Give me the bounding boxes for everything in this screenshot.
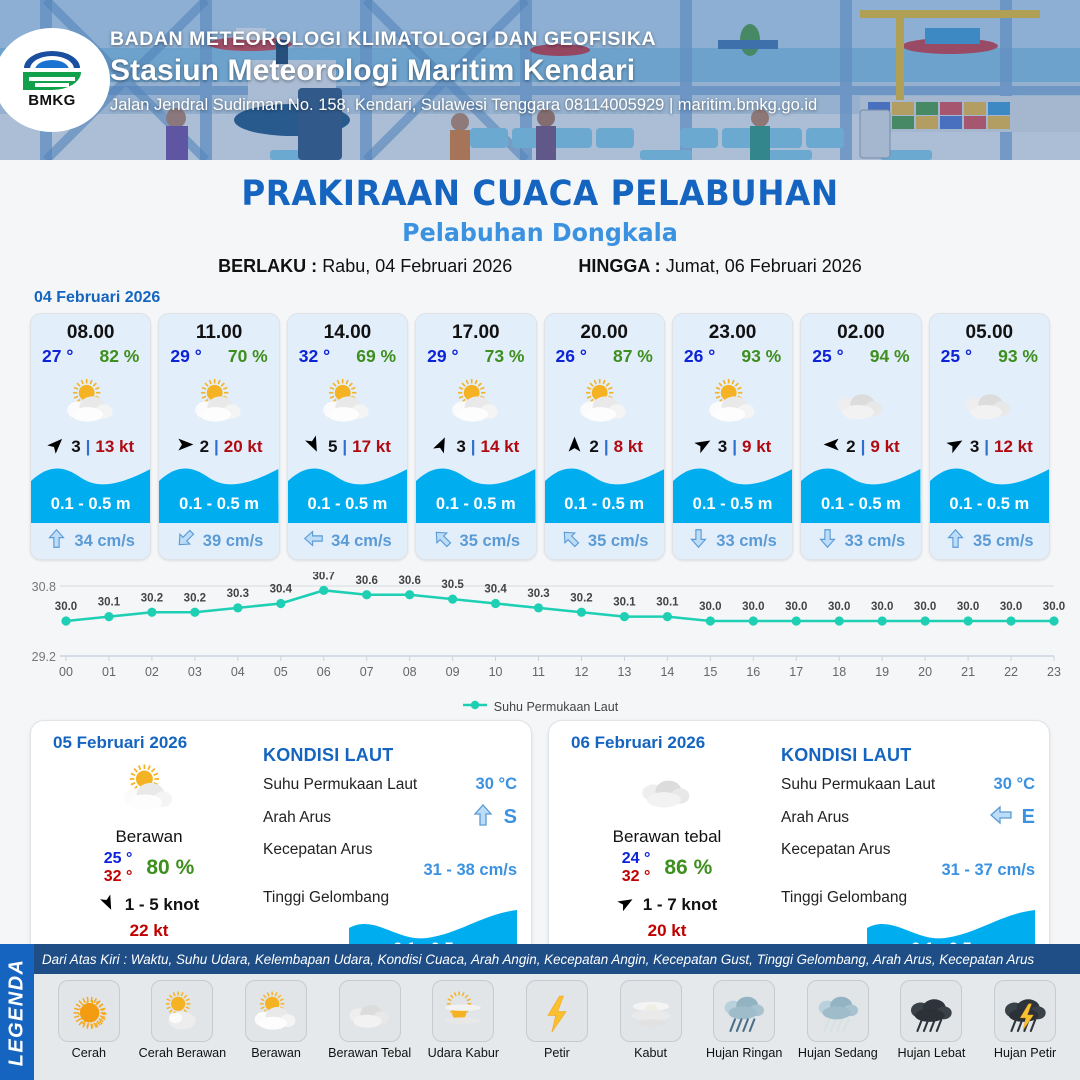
svg-text:30.5: 30.5 <box>441 579 464 591</box>
svg-text:07: 07 <box>360 665 374 679</box>
svg-text:30.0: 30.0 <box>742 601 764 613</box>
hour-temperature: 25 ° <box>812 346 843 367</box>
legend-tab: LEGENDA <box>0 944 34 1080</box>
weather-cloudy-icon <box>801 369 920 432</box>
weather-lightning-icon <box>526 980 588 1042</box>
legend-item: Hujan Ringan <box>700 980 788 1060</box>
svg-text:30.4: 30.4 <box>270 584 293 596</box>
wind-gust-value: 13 kt <box>95 437 134 457</box>
legend-item: Berawan <box>232 980 320 1060</box>
svg-text:30.0: 30.0 <box>914 601 936 613</box>
legend-item: Hujan Petir <box>981 980 1069 1060</box>
page-title: PRAKIRAAN CUACA PELABUHAN <box>38 174 1042 214</box>
daily-forecast-panel: 06 Februari 2026 Berawan tebal 24 ° 32 °… <box>548 720 1050 968</box>
hourly-card: 20.00 26 ° 87 % 2 | 8 kt 0.1 - 0.5 m 35 … <box>544 313 665 560</box>
svg-text:30.2: 30.2 <box>141 592 163 604</box>
wind-direction-arrow-icon <box>946 435 965 459</box>
hour-current: 33 cm/s <box>673 523 792 559</box>
svg-text:30.0: 30.0 <box>785 601 807 613</box>
legend-item-label: Cerah Berawan <box>138 1046 226 1060</box>
svg-text:30.6: 30.6 <box>356 575 378 587</box>
daily-date: 06 Februari 2026 <box>571 733 705 753</box>
wind-direction-value: 5 <box>328 437 337 457</box>
wind-direction-value: 3 <box>970 437 979 457</box>
current-direction-indicator: E <box>989 803 1035 832</box>
hour-time: 20.00 <box>545 314 664 346</box>
svg-text:04: 04 <box>231 665 245 679</box>
sea-conditions-title: KONDISI LAUT <box>263 745 517 766</box>
hourly-card: 14.00 32 ° 69 % 5 | 17 kt 0.1 - 0.5 m 34… <box>287 313 408 560</box>
hour-temperature: 29 ° <box>170 346 201 367</box>
svg-text:11: 11 <box>532 665 545 679</box>
weather-partly-cloudy-icon <box>49 757 249 819</box>
valid-from-value: Rabu, 04 Februari 2026 <box>322 256 512 276</box>
legend-section: LEGENDA Dari Atas Kiri : Waktu, Suhu Uda… <box>0 944 1080 1080</box>
svg-text:01: 01 <box>102 665 116 679</box>
weather-thunderstorm-icon <box>994 980 1056 1042</box>
daily-forecast-row: 05 Februari 2026 Berawan 25 ° 32 ° 80 % … <box>0 714 1080 968</box>
chart-legend-label: Suhu Permukaan Laut <box>494 700 618 714</box>
wind-gust-value: 8 kt <box>614 437 643 457</box>
station-name: Stasiun Meteorologi Maritim Kendari <box>110 54 817 88</box>
hour-wind: 2 | 8 kt <box>545 432 664 462</box>
hour-time: 14.00 <box>288 314 407 346</box>
wave-height-block: 0.1 - 0.5 m <box>288 463 407 523</box>
weather-light-rain-icon <box>713 980 775 1042</box>
legend-note: Dari Atas Kiri : Waktu, Suhu Udara, Kele… <box>42 952 1076 967</box>
legend-item: Cerah Berawan <box>138 980 226 1060</box>
hour-time: 17.00 <box>416 314 535 346</box>
svg-text:30.1: 30.1 <box>656 597 679 609</box>
daily-temp-min: 25 ° <box>104 850 133 868</box>
svg-text:30.1: 30.1 <box>613 597 636 609</box>
legend-item: Udara Kabur <box>419 980 507 1060</box>
wind-gust-value: 17 kt <box>352 437 391 457</box>
svg-text:10: 10 <box>489 665 503 679</box>
hourly-card: 08.00 27 ° 82 % 3 | 13 kt 0.1 - 0.5 m 34… <box>30 313 151 560</box>
current-speed-value: 34 cm/s <box>331 532 392 551</box>
valid-until-value: Jumat, 06 Februari 2026 <box>666 256 862 276</box>
current-direction-arrow-icon <box>560 528 581 554</box>
hour-current: 34 cm/s <box>288 523 407 559</box>
wind-direction-arrow-icon <box>617 894 635 917</box>
svg-text:30.3: 30.3 <box>527 588 549 600</box>
wave-height-row: Tinggi Gelombang <box>263 889 517 907</box>
current-speed-row: Kecepatan Arus <box>781 841 1035 859</box>
hour-current: 39 cm/s <box>159 523 278 559</box>
svg-text:30.4: 30.4 <box>484 584 507 596</box>
svg-text:30.0: 30.0 <box>1000 601 1022 613</box>
svg-text:30.0: 30.0 <box>828 601 850 613</box>
daily-summary: Berawan tebal 24 ° 32 ° 86 % 1 - 7 knot … <box>567 757 767 941</box>
hour-wind: 2 | 9 kt <box>801 432 920 462</box>
hour-humidity: 69 % <box>356 346 396 367</box>
svg-text:19: 19 <box>875 665 889 679</box>
weather-partly-cloudy-icon <box>288 369 407 432</box>
sst-value: 30 °C <box>476 775 517 794</box>
wind-direction-arrow-icon <box>432 435 451 459</box>
svg-text:12: 12 <box>575 665 589 679</box>
hourly-card: 02.00 25 ° 94 % 2 | 9 kt 0.1 - 0.5 m 33 … <box>800 313 921 560</box>
wave-height-value: 0.1 - 0.5 m <box>159 495 278 514</box>
legend-item: Kabut <box>607 980 695 1060</box>
header-text-block: BADAN METEOROLOGI KLIMATOLOGI DAN GEOFIS… <box>110 28 817 115</box>
daily-temp-max: 32 ° <box>104 868 133 886</box>
bmkg-logo-text: BMKG <box>28 92 75 109</box>
hour-temperature: 26 ° <box>684 346 715 367</box>
current-speed-value: 33 cm/s <box>845 532 906 551</box>
hourly-card: 23.00 26 ° 93 % 3 | 9 kt 0.1 - 0.5 m 33 … <box>672 313 793 560</box>
hour-humidity: 73 % <box>485 346 525 367</box>
wave-height-value: 0.1 - 0.5 m <box>673 495 792 514</box>
hour-current: 35 cm/s <box>930 523 1049 559</box>
weather-moderate-rain-icon <box>807 980 869 1042</box>
page-subtitle: Pelabuhan Dongkala <box>27 218 1053 247</box>
wind-gust-value: 20 kt <box>224 437 263 457</box>
current-direction-arrow-icon <box>175 528 196 554</box>
wave-height-label: Tinggi Gelombang <box>781 889 907 907</box>
current-speed-value: 39 cm/s <box>203 532 264 551</box>
hourly-forecast-row: 08.00 27 ° 82 % 3 | 13 kt 0.1 - 0.5 m 34… <box>0 313 1080 560</box>
legend-item-label: Udara Kabur <box>419 1046 507 1060</box>
svg-text:14: 14 <box>660 665 674 679</box>
wave-height-block: 0.1 - 0.5 m <box>801 463 920 523</box>
hour-humidity: 82 % <box>99 346 139 367</box>
hour-values: 29 ° 70 % <box>159 346 278 369</box>
current-direction-label: Arah Arus <box>263 809 331 827</box>
hour-temperature: 27 ° <box>42 346 73 367</box>
wind-separator: | <box>984 437 989 457</box>
daily-wind: 1 - 5 knot <box>49 894 249 917</box>
wind-separator: | <box>471 437 476 457</box>
legend-item: Berawan Tebal <box>326 980 414 1060</box>
chart-legend-marker <box>462 699 488 714</box>
wind-direction-arrow-icon <box>694 435 713 459</box>
wave-height-block: 0.1 - 0.5 m <box>930 463 1049 523</box>
legend-item-label: Hujan Sedang <box>794 1046 882 1060</box>
svg-text:30.8: 30.8 <box>32 580 56 594</box>
sst-label: Suhu Permukaan Laut <box>263 776 417 794</box>
valid-until-label: HINGGA : <box>578 256 660 276</box>
hourly-card: 17.00 29 ° 73 % 3 | 14 kt 0.1 - 0.5 m 35… <box>415 313 536 560</box>
current-speed-value: 35 cm/s <box>973 532 1034 551</box>
wind-direction-value: 3 <box>456 437 465 457</box>
wind-direction-value: 2 <box>589 437 598 457</box>
hour-values: 29 ° 73 % <box>416 346 535 369</box>
valid-from-label: BERLAKU : <box>218 256 317 276</box>
wave-height-value: 0.1 - 0.5 m <box>545 495 664 514</box>
wave-height-value: 0.1 - 0.5 m <box>930 495 1049 514</box>
current-direction-arrow-icon <box>945 528 966 554</box>
svg-text:02: 02 <box>145 665 159 679</box>
daily-gust: 22 kt <box>49 921 249 941</box>
hour-temperature: 25 ° <box>941 346 972 367</box>
current-speed-value: 33 cm/s <box>716 532 777 551</box>
hour-time: 02.00 <box>801 314 920 346</box>
legend-item-label: Hujan Petir <box>981 1046 1069 1060</box>
svg-text:09: 09 <box>446 665 460 679</box>
svg-text:06: 06 <box>317 665 331 679</box>
current-speed-value: 31 - 37 cm/s <box>781 861 1035 880</box>
daily-summary: Berawan 25 ° 32 ° 80 % 1 - 5 knot 22 kt <box>49 757 249 941</box>
hour-temperature: 32 ° <box>299 346 330 367</box>
svg-text:18: 18 <box>832 665 846 679</box>
svg-text:20: 20 <box>918 665 932 679</box>
hourly-card: 11.00 29 ° 70 % 2 | 20 kt 0.1 - 0.5 m 39… <box>158 313 279 560</box>
svg-text:30.0: 30.0 <box>871 601 893 613</box>
hour-time: 11.00 <box>159 314 278 346</box>
legend-item-label: Kabut <box>607 1046 695 1060</box>
hour-values: 26 ° 87 % <box>545 346 664 369</box>
legend-item-label: Hujan Ringan <box>700 1046 788 1060</box>
legend-item: Petir <box>513 980 601 1060</box>
bmkg-logo-arcs <box>21 51 83 91</box>
svg-text:30.7: 30.7 <box>313 572 335 582</box>
hour-values: 25 ° 94 % <box>801 346 920 369</box>
hour-time: 23.00 <box>673 314 792 346</box>
legend-item: Hujan Lebat <box>887 980 975 1060</box>
weather-cloudy-icon <box>567 757 767 819</box>
weather-heavy-rain-icon <box>900 980 962 1042</box>
sea-conditions: KONDISI LAUT Suhu Permukaan Laut 30 °C A… <box>263 745 517 968</box>
current-direction-arrow-icon <box>432 528 453 554</box>
daily-wind-range: 1 - 7 knot <box>643 895 718 915</box>
title-block: PRAKIRAAN CUACA PELABUHAN Pelabuhan Dong… <box>0 160 1080 277</box>
hour-humidity: 93 % <box>741 346 781 367</box>
hour-wind: 2 | 20 kt <box>159 432 278 462</box>
wind-separator: | <box>342 437 347 457</box>
wind-gust-value: 9 kt <box>870 437 899 457</box>
weather-haze-icon <box>432 980 494 1042</box>
legend-item: Hujan Sedang <box>794 980 882 1060</box>
hour-wind: 5 | 17 kt <box>288 432 407 462</box>
page-header: BMKG BADAN METEOROLOGI KLIMATOLOGI DAN G… <box>0 0 1080 160</box>
hour-values: 25 ° 93 % <box>930 346 1049 369</box>
wind-gust-value: 9 kt <box>742 437 771 457</box>
wind-direction-arrow-icon <box>304 435 323 459</box>
hour-humidity: 94 % <box>870 346 910 367</box>
wind-separator: | <box>732 437 737 457</box>
hour-current: 35 cm/s <box>545 523 664 559</box>
weather-sun-icon <box>58 980 120 1042</box>
current-direction-arrow-icon <box>817 528 838 554</box>
legend-item-label: Cerah <box>45 1046 133 1060</box>
daily-humidity: 80 % <box>146 856 194 880</box>
daily-temp-max: 32 ° <box>622 868 651 886</box>
hour-values: 26 ° 93 % <box>673 346 792 369</box>
wind-separator: | <box>861 437 866 457</box>
svg-text:22: 22 <box>1004 665 1018 679</box>
daily-wind: 1 - 7 knot <box>567 894 767 917</box>
daily-forecast-panel: 05 Februari 2026 Berawan 25 ° 32 ° 80 % … <box>30 720 532 968</box>
current-speed-value: 35 cm/s <box>588 532 649 551</box>
wind-direction-value: 3 <box>71 437 80 457</box>
current-direction-label: Arah Arus <box>781 809 849 827</box>
daily-temperatures: 25 ° 32 ° <box>104 850 133 886</box>
hourly-date-label: 04 Februari 2026 <box>34 289 1080 307</box>
svg-text:30.0: 30.0 <box>55 601 77 613</box>
sst-value: 30 °C <box>994 775 1035 794</box>
validity-range: BERLAKU : Rabu, 04 Februari 2026 HINGGA … <box>0 256 1080 277</box>
wave-height-block: 0.1 - 0.5 m <box>159 463 278 523</box>
current-direction-arrow-icon <box>688 528 709 554</box>
wind-direction-arrow-icon <box>99 894 117 917</box>
wave-height-value: 0.1 - 0.5 m <box>288 495 407 514</box>
svg-text:30.3: 30.3 <box>227 588 249 600</box>
wave-height-block: 0.1 - 0.5 m <box>545 463 664 523</box>
current-speed-label: Kecepatan Arus <box>781 841 890 859</box>
daily-temp-humidity: 25 ° 32 ° 80 % <box>49 850 249 886</box>
legend-item-label: Berawan Tebal <box>326 1046 414 1060</box>
current-direction-value: S <box>504 806 517 829</box>
sst-chart: 30.829.230.00030.10130.20230.20330.30430… <box>14 572 1066 697</box>
sea-conditions: KONDISI LAUT Suhu Permukaan Laut 30 °C A… <box>781 745 1035 968</box>
svg-text:00: 00 <box>59 665 73 679</box>
current-direction-row: Arah Arus S <box>263 803 517 832</box>
legend-item-label: Hujan Lebat <box>887 1046 975 1060</box>
current-direction-arrow-icon <box>471 803 495 832</box>
daily-temp-min: 24 ° <box>622 850 651 868</box>
chart-legend: Suhu Permukaan Laut <box>0 699 1080 714</box>
current-direction-value: E <box>1022 806 1035 829</box>
hour-values: 32 ° 69 % <box>288 346 407 369</box>
sea-conditions-title: KONDISI LAUT <box>781 745 1035 766</box>
current-speed-row: Kecepatan Arus <box>263 841 517 859</box>
wave-height-row: Tinggi Gelombang <box>781 889 1035 907</box>
sst-label: Suhu Permukaan Laut <box>781 776 935 794</box>
hour-humidity: 93 % <box>998 346 1038 367</box>
legend-item-label: Berawan <box>232 1046 320 1060</box>
weather-fog-icon <box>620 980 682 1042</box>
wave-height-block: 0.1 - 0.5 m <box>416 463 535 523</box>
hour-time: 08.00 <box>31 314 150 346</box>
svg-text:30.0: 30.0 <box>957 601 979 613</box>
hour-humidity: 70 % <box>228 346 268 367</box>
svg-text:30.2: 30.2 <box>184 592 206 604</box>
svg-text:17: 17 <box>789 665 803 679</box>
current-speed-value: 35 cm/s <box>460 532 521 551</box>
svg-text:30.0: 30.0 <box>699 601 721 613</box>
svg-text:16: 16 <box>746 665 760 679</box>
svg-text:03: 03 <box>188 665 202 679</box>
wind-direction-arrow-icon <box>176 435 195 459</box>
svg-text:30.1: 30.1 <box>98 597 121 609</box>
hour-values: 27 ° 82 % <box>31 346 150 369</box>
weather-partly-cloudy-icon <box>416 369 535 432</box>
organization-name: BADAN METEOROLOGI KLIMATOLOGI DAN GEOFIS… <box>110 28 817 51</box>
hour-time: 05.00 <box>930 314 1049 346</box>
wind-direction-arrow-icon <box>565 435 584 459</box>
weather-partly-cloudy-icon <box>245 980 307 1042</box>
daily-temperatures: 24 ° 32 ° <box>622 850 651 886</box>
svg-text:23: 23 <box>1047 665 1061 679</box>
weather-partly-cloudy-icon <box>673 369 792 432</box>
hour-current: 34 cm/s <box>31 523 150 559</box>
hour-temperature: 26 ° <box>556 346 587 367</box>
svg-text:30.2: 30.2 <box>570 592 592 604</box>
weather-partly-cloudy-icon <box>31 369 150 432</box>
legend-items: Cerah Cerah Berawan Berawan Berawan Teba… <box>34 974 1080 1080</box>
wave-height-label: Tinggi Gelombang <box>263 889 389 907</box>
svg-text:13: 13 <box>617 665 631 679</box>
hour-current: 33 cm/s <box>801 523 920 559</box>
wind-direction-value: 2 <box>200 437 209 457</box>
hour-wind: 3 | 9 kt <box>673 432 792 462</box>
hourly-card: 05.00 25 ° 93 % 3 | 12 kt 0.1 - 0.5 m 35… <box>929 313 1050 560</box>
wind-separator: | <box>604 437 609 457</box>
wind-direction-arrow-icon <box>822 435 841 459</box>
weather-cloudy-icon <box>930 369 1049 432</box>
current-direction-arrow-icon <box>46 528 67 554</box>
legend-tab-label: LEGENDA <box>6 958 29 1066</box>
daily-date: 05 Februari 2026 <box>53 733 187 753</box>
legend-item: Cerah <box>45 980 133 1060</box>
weather-partly-cloudy-icon <box>545 369 664 432</box>
wave-height-value: 0.1 - 0.5 m <box>416 495 535 514</box>
wind-gust-value: 12 kt <box>994 437 1033 457</box>
sst-row: Suhu Permukaan Laut 30 °C <box>263 775 517 794</box>
daily-temp-humidity: 24 ° 32 ° 86 % <box>567 850 767 886</box>
hour-wind: 3 | 13 kt <box>31 432 150 462</box>
legend-item-label: Petir <box>513 1046 601 1060</box>
daily-condition: Berawan <box>49 827 249 847</box>
wind-gust-value: 14 kt <box>481 437 520 457</box>
wave-height-block: 0.1 - 0.5 m <box>31 463 150 523</box>
wind-direction-value: 3 <box>718 437 727 457</box>
current-speed-value: 34 cm/s <box>74 532 135 551</box>
svg-text:30.0: 30.0 <box>1043 601 1065 613</box>
hour-wind: 3 | 12 kt <box>930 432 1049 462</box>
wind-direction-value: 2 <box>846 437 855 457</box>
sst-row: Suhu Permukaan Laut 30 °C <box>781 775 1035 794</box>
weather-sun-cloud-icon <box>151 980 213 1042</box>
hour-temperature: 29 ° <box>427 346 458 367</box>
current-direction-arrow-icon <box>303 528 324 554</box>
svg-text:21: 21 <box>961 665 975 679</box>
hour-humidity: 87 % <box>613 346 653 367</box>
wind-direction-arrow-icon <box>47 435 66 459</box>
daily-gust: 20 kt <box>567 921 767 941</box>
weather-partly-cloudy-icon <box>159 369 278 432</box>
daily-wind-range: 1 - 5 knot <box>125 895 200 915</box>
wave-height-block: 0.1 - 0.5 m <box>673 463 792 523</box>
svg-text:15: 15 <box>703 665 717 679</box>
wave-height-value: 0.1 - 0.5 m <box>31 495 150 514</box>
current-direction-arrow-icon <box>989 803 1013 832</box>
wind-separator: | <box>214 437 219 457</box>
station-address: Jalan Jendral Sudirman No. 158, Kendari,… <box>110 96 817 115</box>
svg-text:30.6: 30.6 <box>398 575 420 587</box>
hour-wind: 3 | 14 kt <box>416 432 535 462</box>
svg-text:08: 08 <box>403 665 417 679</box>
current-direction-indicator: S <box>471 803 517 832</box>
weather-cloudy-icon <box>339 980 401 1042</box>
daily-condition: Berawan tebal <box>567 827 767 847</box>
svg-text:05: 05 <box>274 665 288 679</box>
daily-humidity: 86 % <box>664 856 712 880</box>
hour-current: 35 cm/s <box>416 523 535 559</box>
svg-text:29.2: 29.2 <box>32 650 56 664</box>
current-direction-row: Arah Arus E <box>781 803 1035 832</box>
current-speed-label: Kecepatan Arus <box>263 841 372 859</box>
current-speed-value: 31 - 38 cm/s <box>263 861 517 880</box>
wind-separator: | <box>86 437 91 457</box>
wave-height-value: 0.1 - 0.5 m <box>801 495 920 514</box>
